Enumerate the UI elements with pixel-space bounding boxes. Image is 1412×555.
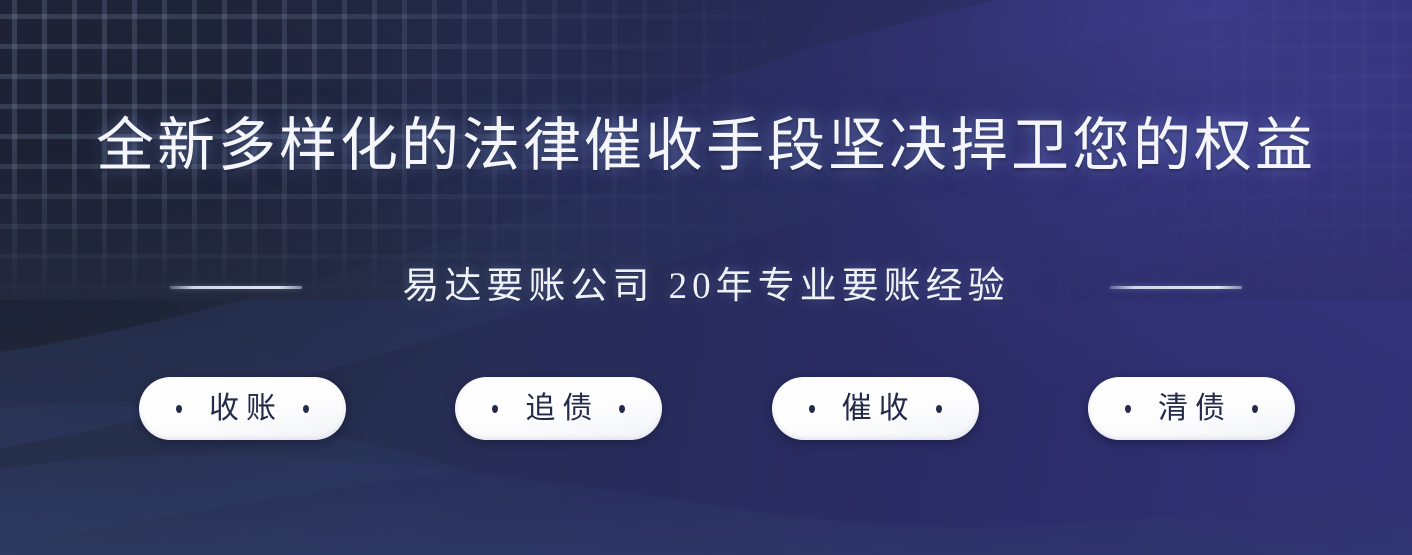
subtitle-row: 易达要账公司 20年专业要账经验 <box>0 264 1412 310</box>
service-pill-label: 收账 <box>202 391 283 427</box>
dot-icon-right <box>303 405 309 413</box>
service-pill-shouzhang[interactable]: 收账 <box>139 377 346 440</box>
dot-icon-left <box>1125 405 1131 413</box>
dot-icon-right <box>619 405 625 413</box>
divider-line-left <box>170 286 302 289</box>
service-pill-label: 催收 <box>835 391 916 427</box>
dot-icon-right <box>936 405 942 413</box>
dot-icon-left <box>176 405 182 413</box>
service-pill-zhuizhai[interactable]: 追债 <box>455 377 662 440</box>
service-pill-cuishou[interactable]: 催收 <box>772 377 979 440</box>
dot-icon-left <box>809 405 815 413</box>
service-pill-label: 追债 <box>518 391 599 427</box>
divider-line-right <box>1110 286 1242 289</box>
promo-banner: 全新多样化的法律催收手段坚决捍卫您的权益 易达要账公司 20年专业要账经验 收账… <box>0 0 1412 555</box>
dot-icon-right <box>1252 405 1258 413</box>
service-pill-row: 收账 追债 催收 清债 <box>139 377 1295 440</box>
subtitle-text: 易达要账公司 20年专业要账经验 <box>402 264 1009 310</box>
service-pill-label: 清债 <box>1151 391 1232 427</box>
dot-icon-left <box>492 405 498 413</box>
service-pill-qingzhai[interactable]: 清债 <box>1088 377 1295 440</box>
page-title: 全新多样化的法律催收手段坚决捍卫您的权益 <box>0 112 1412 180</box>
